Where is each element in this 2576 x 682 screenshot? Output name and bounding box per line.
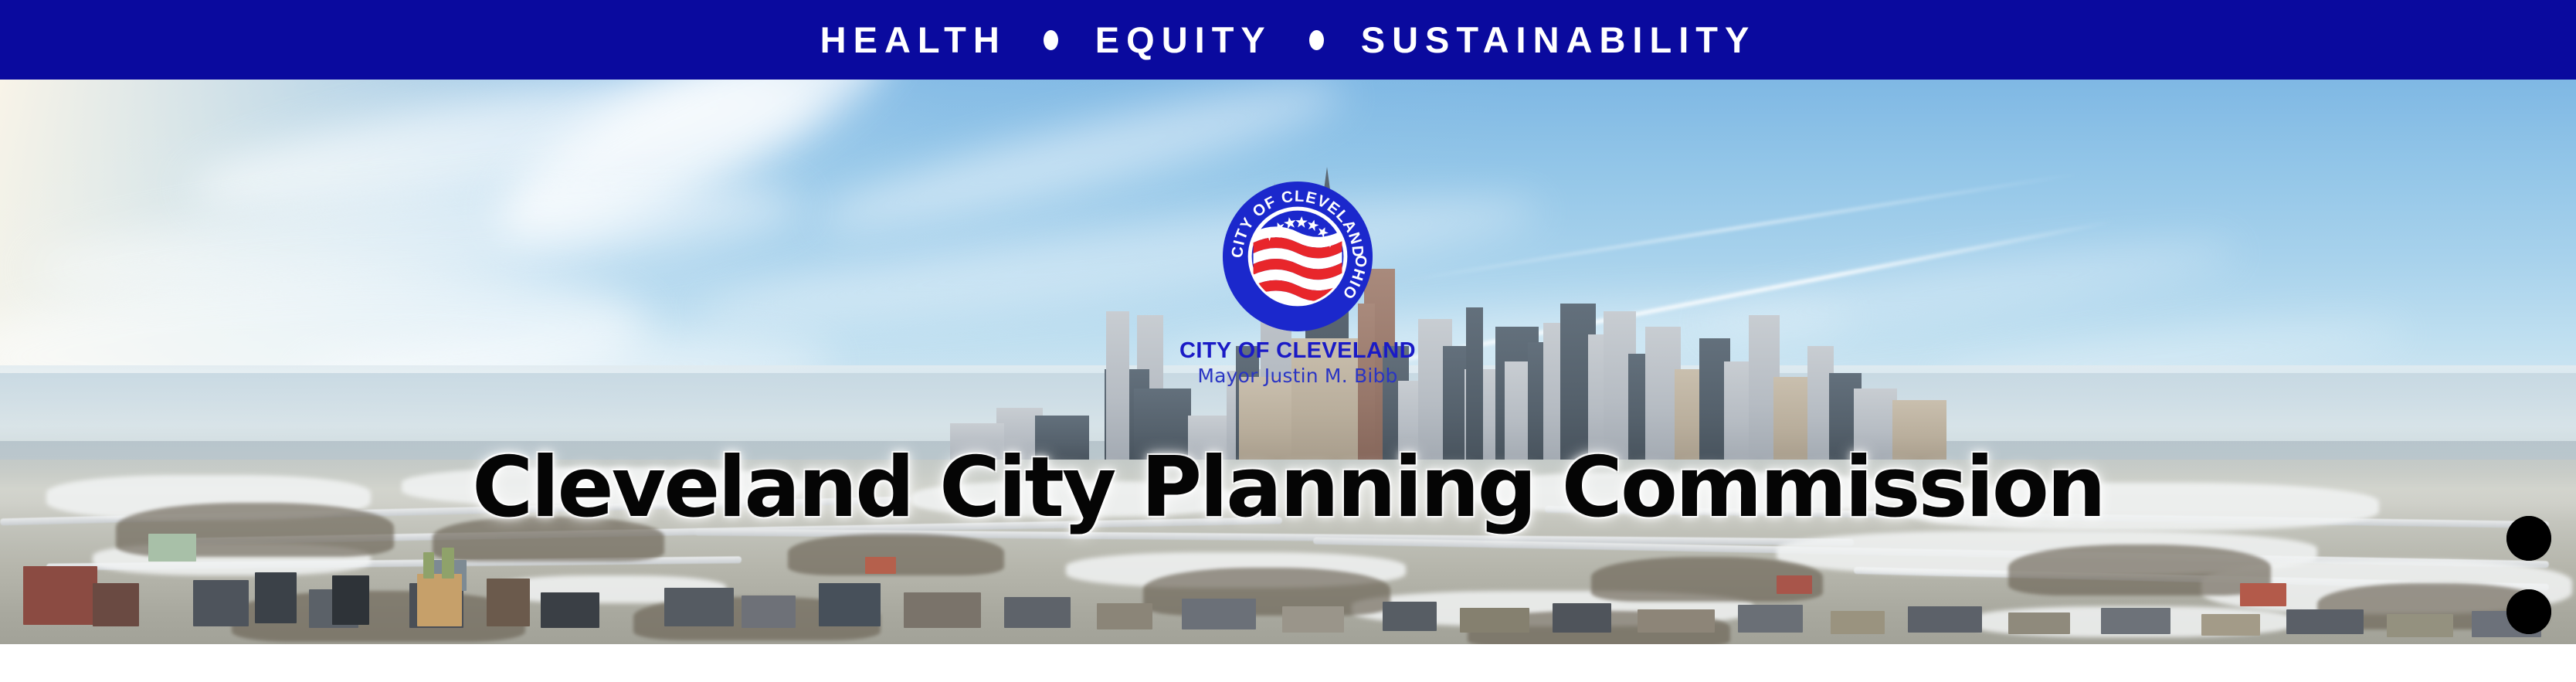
tagline-word-health: HEALTH (820, 22, 1006, 58)
bottom-spacer (0, 644, 2576, 682)
city-seal-block: CITY OF CLEVELAND OHIO CITY OF CLEVELAND… (1155, 180, 1441, 412)
seal-title: CITY OF CLEVELAND (1155, 339, 1441, 362)
page-root: HEALTH EQUITY SUSTAINABILITY (0, 0, 2576, 682)
tagline-separator-dot-2 (1309, 30, 1324, 50)
tagline-banner-inner: HEALTH EQUITY SUSTAINABILITY (820, 22, 1756, 58)
tagline-separator-dot-1 (1044, 30, 1058, 50)
social-links (2506, 516, 2553, 644)
tagline-word-sustainability: SUSTAINABILITY (1361, 22, 1756, 58)
tagline-word-equity: EQUITY (1095, 22, 1272, 58)
instagram-icon[interactable] (2506, 589, 2551, 634)
seal-subtitle-mayor: Mayor Justin M. Bibb (1155, 366, 1441, 386)
hero-photo: CITY OF CLEVELAND OHIO CITY OF CLEVELAND… (0, 80, 2576, 644)
city-of-cleveland-ohio-seal-icon: CITY OF CLEVELAND OHIO (1221, 180, 1374, 333)
tagline-banner: HEALTH EQUITY SUSTAINABILITY (0, 0, 2576, 80)
page-title: Cleveland City Planning Commission (0, 446, 2576, 530)
